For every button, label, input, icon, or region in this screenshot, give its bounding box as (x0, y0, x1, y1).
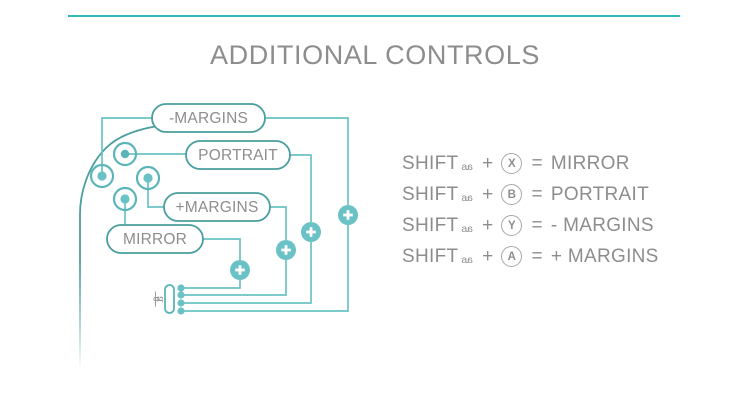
plus-node-plus-margins[interactable] (276, 240, 296, 260)
slide-canvas: ADDITIONAL CONTROLS (0, 0, 750, 418)
shortcut-result-plus-margins: + MARGINS (551, 246, 659, 268)
shortcut-equals-symbol: = (531, 184, 542, 206)
shortcut-plus-symbol: + (482, 153, 493, 175)
pill-minus-margins[interactable]: -MARGINS (152, 104, 265, 132)
shortcut-modifier-label: SHIFT (402, 215, 458, 237)
plus-node-minus-margins[interactable] (338, 205, 358, 225)
shortcut-row-mirror: SHIFT aa + X = MIRROR (402, 148, 702, 179)
pill-plus-margins[interactable]: +MARGINS (164, 193, 270, 221)
shift-port-3 (177, 299, 184, 306)
shortcut-result-minus-margins: - MARGINS (551, 215, 654, 237)
wire-plus-margins-rail-top (270, 207, 286, 240)
pill-label-plus-margins: +MARGINS (176, 199, 259, 216)
shortcut-equals-symbol: = (531, 246, 542, 268)
shortcut-plus-symbol: + (482, 184, 493, 206)
wire-mirror-rail-bottom (181, 280, 240, 288)
shift-key-mirror-glyph: a (155, 296, 166, 302)
shortcut-key-y: Y (501, 215, 522, 236)
pill-label-minus-margins: -MARGINS (169, 110, 248, 127)
plus-node-portrait[interactable] (301, 222, 321, 242)
shift-port-2 (177, 291, 184, 298)
shortcut-key-a: A (501, 246, 522, 267)
wire-minus-margins-rail-bottom (181, 225, 348, 311)
shortcut-equals-symbol: = (531, 153, 542, 175)
shortcut-row-plus-margins: SHIFT aa + A = + MARGINS (402, 241, 702, 272)
shift-key[interactable] (165, 285, 174, 313)
shift-mirror-glyph-icon: aa (461, 254, 473, 266)
shortcut-modifier-label: SHIFT (402, 246, 458, 268)
shortcut-plus-symbol: + (482, 246, 493, 268)
shift-key-ports (177, 284, 184, 314)
pill-mirror[interactable]: MIRROR (107, 225, 203, 253)
shortcut-key-x: X (501, 153, 522, 174)
shortcut-legend: SHIFT aa + X = MIRROR SHIFT aa + B = POR… (402, 148, 702, 272)
shift-mirror-glyph-icon: aa (461, 161, 473, 173)
wire-mirror-rail-top (203, 239, 240, 260)
shortcut-equals-symbol: = (531, 215, 542, 237)
shift-port-4 (177, 307, 184, 314)
pill-label-mirror: MIRROR (123, 231, 187, 248)
shift-port-1 (177, 284, 184, 291)
shortcut-key-b: B (501, 184, 522, 205)
shortcut-result-portrait: PORTRAIT (551, 184, 649, 206)
pill-label-portrait: PORTRAIT (198, 147, 278, 164)
shift-mirror-glyph-icon: aa (461, 223, 473, 235)
shift-mirror-glyph-icon: aa (461, 192, 473, 204)
shortcut-row-portrait: SHIFT aa + B = PORTRAIT (402, 179, 702, 210)
shift-key-label: a a (151, 292, 166, 307)
shortcut-row-minus-margins: SHIFT aa + Y = - MARGINS (402, 210, 702, 241)
game-controller-shortcut-diagram: -MARGINS PORTRAIT +MARGINS MIRROR (0, 0, 400, 418)
pill-portrait[interactable]: PORTRAIT (186, 141, 290, 169)
wire-portrait-rail-top (290, 155, 311, 222)
shortcut-modifier-label: SHIFT (402, 153, 458, 175)
plus-node-mirror[interactable] (230, 260, 250, 280)
shortcut-plus-symbol: + (482, 215, 493, 237)
shortcut-result-mirror: MIRROR (551, 153, 630, 175)
shortcut-modifier-label: SHIFT (402, 184, 458, 206)
